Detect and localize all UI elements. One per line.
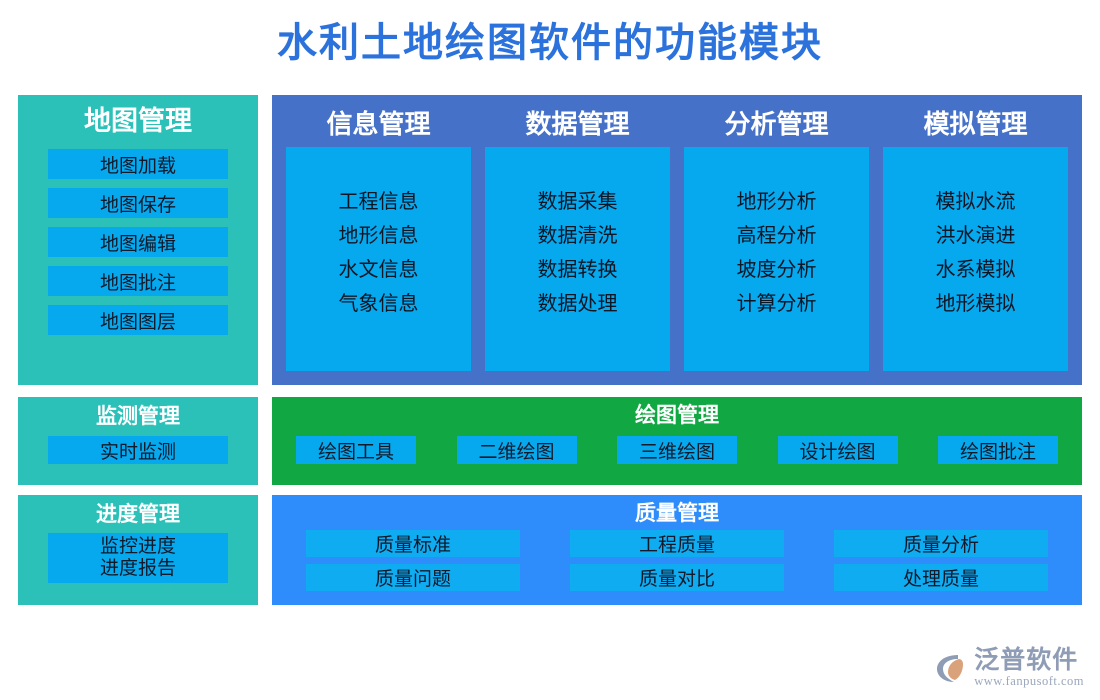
chip-map-annotate[interactable]: 地图批注	[48, 266, 228, 296]
panel-progress-management: 进度管理 监控进度 进度报告	[18, 495, 258, 605]
panel-title-map-management: 地图管理	[18, 107, 258, 135]
chip-map-edit[interactable]: 地图编辑	[48, 227, 228, 257]
infographic-page: 水利土地绘图软件的功能模块 地图管理 地图加载 地图保存 地图编辑 地图批注 地…	[0, 0, 1100, 700]
company-logo: 泛普软件 www.fanpusoft.com	[934, 648, 1084, 688]
card-data-management: 数据采集 数据清洗 数据转换 数据处理	[485, 147, 670, 371]
chip-quality-standard[interactable]: 质量标准	[306, 530, 520, 557]
chip-quality-issue[interactable]: 质量问题	[306, 564, 520, 591]
panel-monitoring-management: 监测管理 实时监测	[18, 397, 258, 485]
column-title-analysis-management: 分析管理	[684, 105, 869, 147]
item-data-collection[interactable]: 数据采集	[538, 191, 618, 213]
drawing-management-item-list: 绘图工具 二维绘图 三维绘图 设计绘图 绘图批注	[272, 426, 1082, 464]
card-simulation-management: 模拟水流 洪水演进 水系模拟 地形模拟	[883, 147, 1068, 371]
chip-realtime-monitoring[interactable]: 实时监测	[48, 436, 228, 464]
item-flood-routing[interactable]: 洪水演进	[936, 225, 1016, 247]
card-information-management: 工程信息 地形信息 水文信息 气象信息	[286, 147, 471, 371]
item-terrain-simulation[interactable]: 地形模拟	[936, 293, 1016, 315]
item-water-flow-simulation[interactable]: 模拟水流	[936, 191, 1016, 213]
chip-map-load[interactable]: 地图加载	[48, 149, 228, 179]
item-terrain-analysis[interactable]: 地形分析	[737, 191, 817, 213]
item-data-conversion[interactable]: 数据转换	[538, 259, 618, 281]
map-management-item-list: 地图加载 地图保存 地图编辑 地图批注 地图图层	[18, 149, 258, 335]
panel-core-modules: 信息管理 工程信息 地形信息 水文信息 气象信息 数据管理 数据采集 数据清洗 …	[272, 95, 1082, 385]
chip-2d-drawing[interactable]: 二维绘图	[457, 436, 577, 464]
column-title-information-management: 信息管理	[286, 105, 471, 147]
label-progress-report: 进度报告	[100, 558, 176, 580]
item-project-information[interactable]: 工程信息	[339, 191, 419, 213]
chip-project-quality[interactable]: 工程质量	[570, 530, 784, 557]
item-hydrology-information[interactable]: 水文信息	[339, 259, 419, 281]
chip-quality-handling[interactable]: 处理质量	[834, 564, 1048, 591]
label-progress-monitoring: 监控进度	[100, 536, 176, 558]
chip-quality-comparison[interactable]: 质量对比	[570, 564, 784, 591]
column-analysis-management: 分析管理 地形分析 高程分析 坡度分析 计算分析	[684, 105, 869, 371]
panel-title-quality-management: 质量管理	[272, 502, 1082, 524]
panel-drawing-management: 绘图管理 绘图工具 二维绘图 三维绘图 设计绘图 绘图批注	[272, 397, 1082, 485]
chip-map-save[interactable]: 地图保存	[48, 188, 228, 218]
logo-text-block: 泛普软件 www.fanpusoft.com	[974, 648, 1084, 688]
chip-drawing-tools[interactable]: 绘图工具	[296, 436, 416, 464]
logo-brand-name: 泛普软件	[974, 648, 1078, 674]
column-title-simulation-management: 模拟管理	[883, 105, 1068, 147]
logo-website-url: www.fanpusoft.com	[974, 674, 1084, 688]
chip-quality-analysis[interactable]: 质量分析	[834, 530, 1048, 557]
chip-drawing-annotation[interactable]: 绘图批注	[938, 436, 1058, 464]
column-simulation-management: 模拟管理 模拟水流 洪水演进 水系模拟 地形模拟	[883, 105, 1068, 371]
chip-design-drawing[interactable]: 设计绘图	[778, 436, 898, 464]
item-data-cleaning[interactable]: 数据清洗	[538, 225, 618, 247]
column-title-data-management: 数据管理	[485, 105, 670, 147]
page-title: 水利土地绘图软件的功能模块	[0, 18, 1100, 68]
panel-title-progress-management: 进度管理	[18, 503, 258, 525]
item-meteorology-information[interactable]: 气象信息	[339, 293, 419, 315]
item-elevation-analysis[interactable]: 高程分析	[737, 225, 817, 247]
panel-quality-management: 质量管理 质量标准 工程质量 质量分析 质量问题 质量对比 处理质量	[272, 495, 1082, 605]
column-data-management: 数据管理 数据采集 数据清洗 数据转换 数据处理	[485, 105, 670, 371]
chip-progress-group[interactable]: 监控进度 进度报告	[48, 533, 228, 583]
chip-3d-drawing[interactable]: 三维绘图	[617, 436, 737, 464]
chip-map-layer[interactable]: 地图图层	[48, 305, 228, 335]
item-slope-analysis[interactable]: 坡度分析	[737, 259, 817, 281]
column-information-management: 信息管理 工程信息 地形信息 水文信息 气象信息	[286, 105, 471, 371]
panel-title-monitoring-management: 监测管理	[18, 405, 258, 427]
item-river-system-simulation[interactable]: 水系模拟	[936, 259, 1016, 281]
fanpu-logo-icon	[934, 651, 968, 685]
panel-title-drawing-management: 绘图管理	[272, 404, 1082, 426]
item-calculation-analysis[interactable]: 计算分析	[737, 293, 817, 315]
quality-management-item-grid: 质量标准 工程质量 质量分析 质量问题 质量对比 处理质量	[272, 524, 1082, 591]
item-terrain-information[interactable]: 地形信息	[339, 225, 419, 247]
item-data-processing[interactable]: 数据处理	[538, 293, 618, 315]
panel-map-management: 地图管理 地图加载 地图保存 地图编辑 地图批注 地图图层	[18, 95, 258, 385]
card-analysis-management: 地形分析 高程分析 坡度分析 计算分析	[684, 147, 869, 371]
